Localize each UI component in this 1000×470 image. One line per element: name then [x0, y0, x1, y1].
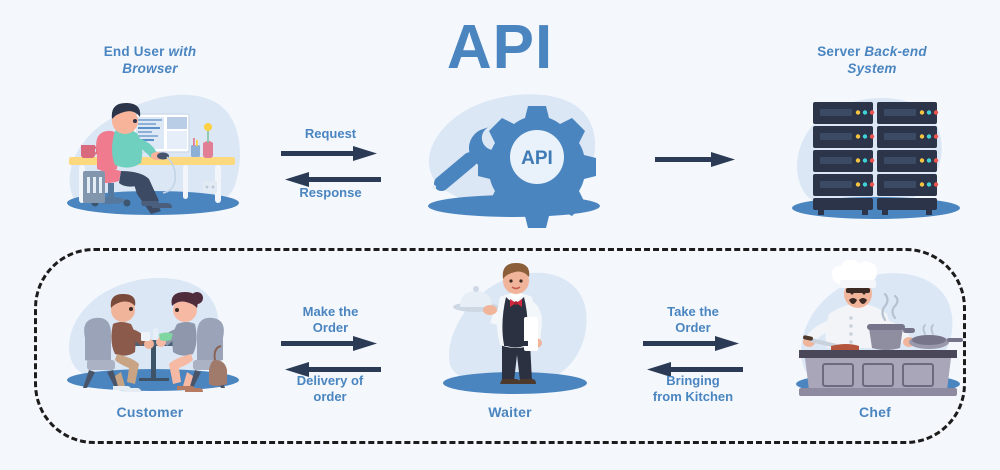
- waiter-illustration: [440, 255, 590, 405]
- take-order-line2: Order: [675, 320, 710, 335]
- api-illustration: API: [418, 88, 610, 224]
- customer-label: Customer: [60, 404, 240, 422]
- end-user-illustration: [55, 85, 251, 221]
- api-to-server-arrow: [655, 150, 737, 170]
- request-arrow: [281, 146, 377, 161]
- server-illustration: [780, 88, 972, 224]
- request-arrow-label: Request: [268, 126, 393, 142]
- response-arrow-label: Response: [268, 185, 393, 201]
- bringing-kitchen-line2: from Kitchen: [653, 389, 733, 404]
- take-order-arrow-label: Take the Order: [628, 304, 758, 335]
- delivery-order-line2: order: [313, 389, 346, 404]
- end-user-label: End User with Browser: [60, 44, 240, 78]
- take-order-line1: Take the: [667, 304, 719, 319]
- delivery-order-arrow-label: Delivery of order: [265, 373, 395, 404]
- server-label-line2: System: [847, 61, 896, 76]
- end-user-label-italic: with: [169, 44, 197, 59]
- make-order-arrow-label: Make the Order: [268, 304, 393, 335]
- make-order-line2: Order: [313, 320, 348, 335]
- server-label-line1: Server: [817, 44, 864, 59]
- chef-label: Chef: [785, 404, 965, 422]
- bringing-kitchen-line1: Bringing: [666, 373, 719, 388]
- diagram-canvas: API End User with Browser Server Back-en…: [0, 0, 1000, 470]
- take-order-arrow: [643, 336, 739, 351]
- delivery-order-line1: Delivery of: [297, 373, 363, 388]
- server-rack-right: [877, 102, 938, 215]
- server-label-italic: Back-end: [864, 44, 926, 59]
- end-user-label-line1: End User: [104, 44, 169, 59]
- server-label: Server Back-end System: [782, 44, 962, 78]
- bringing-kitchen-arrow-label: Bringing from Kitchen: [623, 373, 763, 404]
- server-rack-left: [813, 102, 874, 215]
- end-user-label-line2: Browser: [122, 61, 177, 76]
- make-order-line1: Make the: [303, 304, 359, 319]
- api-gear-text: API: [521, 148, 553, 169]
- customer-illustration: [55, 268, 251, 398]
- make-order-arrow: [281, 336, 377, 351]
- waiter-label: Waiter: [420, 404, 600, 422]
- chef-illustration: [785, 262, 971, 404]
